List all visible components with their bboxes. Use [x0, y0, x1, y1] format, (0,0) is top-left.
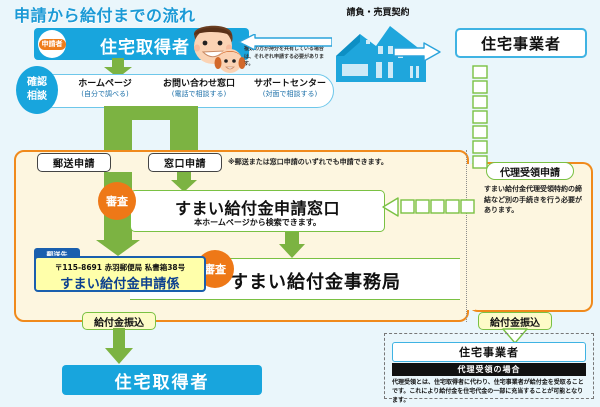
arrow-down-to-office — [278, 232, 306, 258]
panel-vertical-divider — [466, 150, 467, 322]
consult-item-homepage[interactable]: ホームページ (自分で調べる) — [58, 79, 152, 100]
proxy-case-description: 代理受領とは、住宅取得者に代わり、住宅事業者が給付金を受取ることです。これにより… — [392, 378, 588, 405]
dashed-chain-vertical — [469, 64, 491, 174]
application-window-box: すまい給付金申請窓口 本ホームページから検索できます。 — [130, 190, 385, 232]
application-window-title: すまい給付金申請窓口 — [131, 195, 384, 219]
postal-address-box: 〒115-8691 赤羽郵便局 私書箱38号 すまい給付金申請係 — [34, 256, 206, 292]
contract-label: 請負・売買契約 — [328, 5, 428, 18]
acquirer-bottom-label: 住宅取得者 — [115, 368, 210, 393]
consult-item-sub: (電話で相談する) — [152, 90, 246, 100]
arrow-down-to-acquirer — [104, 328, 134, 364]
arrow-down-to-application-window — [170, 172, 198, 192]
postal-department-line: すまい給付金申請係 — [36, 273, 204, 292]
application-window-sub: 本ホームページから検索できます。 — [131, 217, 384, 228]
consult-item-title: お問い合わせ窓口 — [152, 79, 246, 90]
acquirer-bottom-box: 住宅取得者 — [62, 365, 262, 395]
consult-item-title: ホームページ — [58, 79, 152, 90]
applicant-badge: 申請者 — [38, 30, 66, 58]
consult-badge-line2: 相談 — [27, 92, 47, 103]
business-operator-box: 住宅事業者 — [455, 28, 587, 58]
dashed-chain-arrow-left — [382, 196, 478, 218]
consult-item-sub: (対面で相談する) — [243, 90, 337, 100]
proxy-business-label: 住宅事業者 — [459, 344, 519, 360]
chip-mail-application: 郵送申請 — [37, 153, 111, 172]
diagram-canvas: 申請から給付までの流れ 申請者 住宅取得者 複数の方が持分を共有している場合は、… — [0, 0, 600, 407]
proxy-case-header: 代理受領の場合 — [392, 363, 586, 376]
flow-stem-join — [104, 106, 198, 120]
proxy-case-header-label: 代理受領の場合 — [458, 364, 521, 375]
arrow-head-mail — [96, 240, 140, 256]
page-title: 申請から給付までの流れ — [14, 2, 196, 26]
office-title: すまい給付金事務局 — [230, 268, 401, 294]
chip-window-application: 窓口申請 — [148, 153, 222, 172]
consult-badge: 確認 ・ 相談 — [16, 66, 58, 114]
arrow-right-contract — [393, 42, 441, 62]
consult-item-sub: (自分で調べる) — [58, 90, 152, 100]
postal-address-line: 〒115-8691 赤羽郵便局 私書箱38号 — [36, 262, 204, 273]
arrow-left-contract — [237, 34, 332, 50]
proxy-application-chip: 代理受領申請 — [486, 162, 574, 180]
either-method-note: ※郵送または窓口申請のいずれでも申請できます。 — [228, 157, 458, 167]
proxy-business-box: 住宅事業者 — [392, 342, 586, 362]
consult-item-inquiry[interactable]: お問い合わせ窓口 (電話で相談する) — [152, 79, 246, 100]
consult-item-title: サポートセンター — [243, 79, 337, 90]
business-operator-label: 住宅事業者 — [481, 33, 561, 54]
proxy-application-note: すまい給付金代理受領特約の締結など別の手続きを行う必要があります。 — [484, 184, 584, 216]
applicant-badge-label: 申請者 — [39, 39, 66, 50]
consult-item-support-center[interactable]: サポートセンター (対面で相談する) — [243, 79, 337, 100]
review-badge-1: 審査 — [98, 182, 136, 220]
